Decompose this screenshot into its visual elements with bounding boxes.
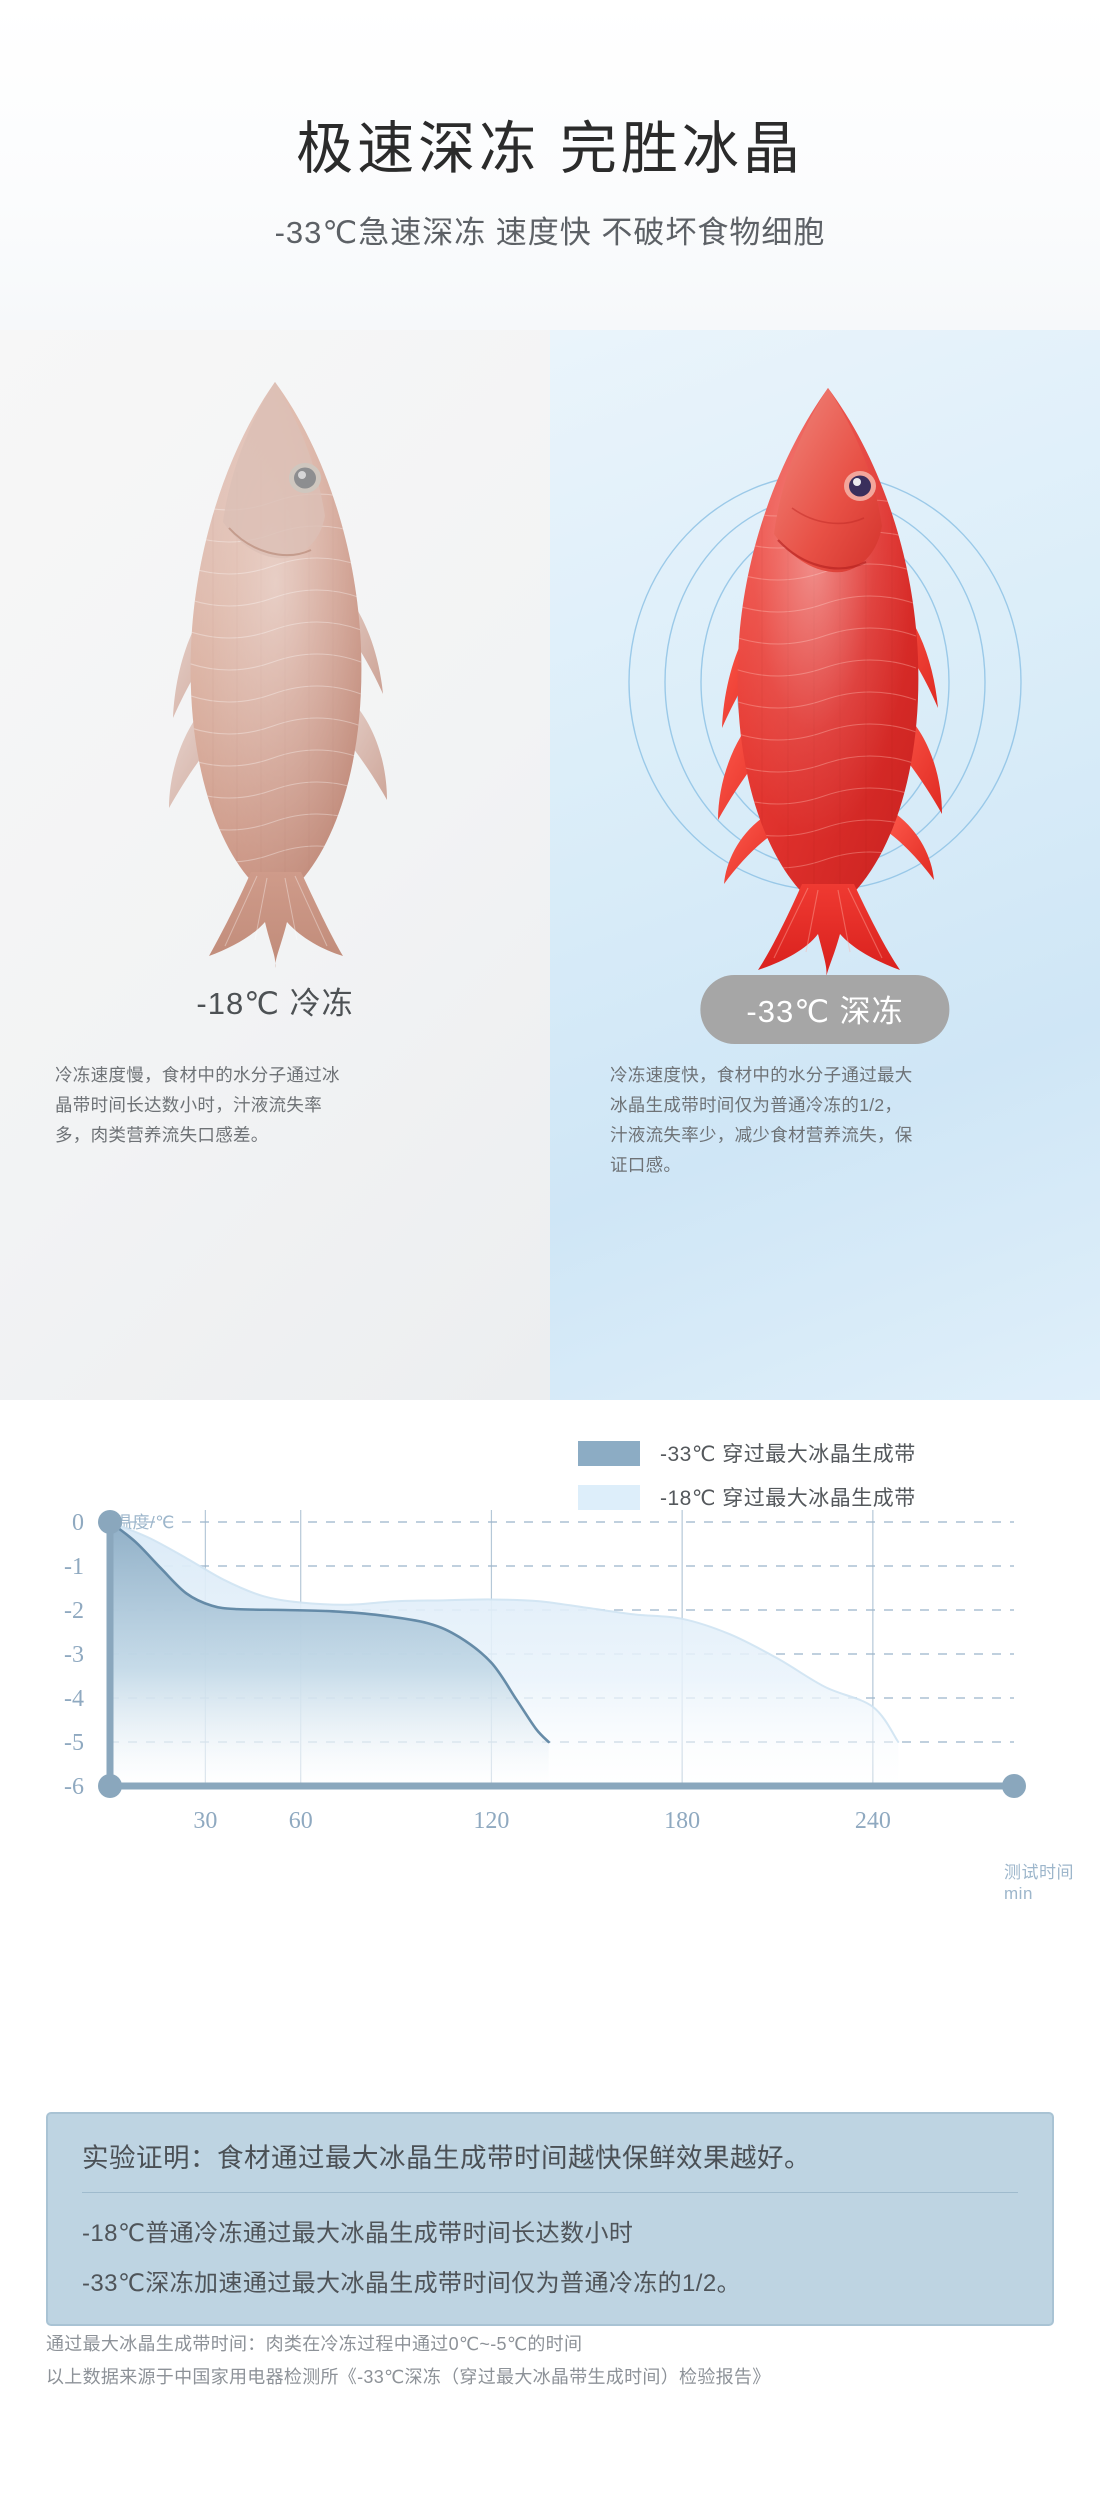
freezing-curve-chart: 0-1-2-3-4-5-63060120180240 xyxy=(0,1504,1100,1864)
legend-label-minus33: -33℃ 穿过最大冰晶生成带 xyxy=(660,1438,916,1468)
footnotes: 通过最大冰晶生成带时间：肉类在冷冻过程中通过0℃~-5℃的时间 以上数据来源于中… xyxy=(46,2328,1056,2395)
footnote-2: 以上数据来源于中国家用电器检测所《-33℃深冻（穿过最大冰晶带生成时间）检验报告… xyxy=(46,2361,1056,2394)
page-title: 极速深冻 完胜冰晶 xyxy=(0,118,1100,181)
conclusion-callout: 实验证明：食材通过最大冰晶生成带时间越快保鲜效果越好。 -18℃普通冷冻通过最大… xyxy=(46,2112,1054,2326)
callout-line-2: -33℃深冻加速通过最大冰晶生成带时间仅为普通冷冻的1/2。 xyxy=(82,2263,1018,2298)
legend-swatch-minus33 xyxy=(578,1441,640,1466)
svg-text:-1: -1 xyxy=(64,1554,84,1580)
right-description: 冷冻速度快，食材中的水分子通过最大冰晶生成带时间仅为普通冷冻的1/2，汁液流失率… xyxy=(610,1060,920,1180)
svg-text:-3: -3 xyxy=(64,1642,84,1668)
right-fish-stage xyxy=(550,330,1100,1030)
comparison-panel-minus33: -33℃ 深冻 冷冻速度快，食材中的水分子通过最大冰晶生成带时间仅为普通冷冻的1… xyxy=(550,330,1100,1400)
x-axis-title: 测试时间 min xyxy=(1004,1862,1074,1905)
callout-line-1: -18℃普通冷冻通过最大冰晶生成带时间长达数小时 xyxy=(82,2213,1018,2248)
comparison-panel-minus18: -18℃ 冷冻 冷冻速度慢，食材中的水分子通过冰晶带时间长达数小时，汁液流失率多… xyxy=(0,330,550,1400)
svg-text:30: 30 xyxy=(193,1808,217,1834)
x-axis-unit-text: min xyxy=(1004,1883,1074,1904)
frosted-fish-image xyxy=(125,352,425,977)
svg-text:60: 60 xyxy=(289,1808,313,1834)
chart-section: -33℃ 穿过最大冰晶生成带 -18℃ 穿过最大冰晶生成带 温度/℃ 测试时间 … xyxy=(0,1400,1100,2496)
right-caption-badge: -33℃ 深冻 xyxy=(700,975,949,1044)
fresh-fish-image xyxy=(670,358,980,983)
comparison-section: -18℃ 冷冻 冷冻速度慢，食材中的水分子通过冰晶带时间长达数小时，汁液流失率多… xyxy=(0,330,1100,1400)
left-description: 冷冻速度慢，食材中的水分子通过冰晶带时间长达数小时，汁液流失率多，肉类营养流失口… xyxy=(55,1060,355,1150)
left-caption: -18℃ 冷冻 xyxy=(0,978,550,1023)
page-subtitle: -33℃急速深冻 速度快 不破坏食物细胞 xyxy=(0,207,1100,252)
svg-text:180: 180 xyxy=(664,1808,700,1834)
left-fish-stage xyxy=(0,330,550,1030)
svg-text:120: 120 xyxy=(473,1808,509,1834)
x-axis-title-text: 测试时间 xyxy=(1004,1862,1074,1883)
hero-header: 极速深冻 完胜冰晶 -33℃急速深冻 速度快 不破坏食物细胞 xyxy=(0,0,1100,330)
svg-text:-6: -6 xyxy=(64,1774,84,1800)
svg-text:0: 0 xyxy=(72,1510,84,1536)
legend-item: -33℃ 穿过最大冰晶生成带 xyxy=(578,1438,916,1468)
svg-text:-2: -2 xyxy=(64,1598,84,1624)
footnote-1: 通过最大冰晶生成带时间：肉类在冷冻过程中通过0℃~-5℃的时间 xyxy=(46,2328,1056,2361)
svg-text:240: 240 xyxy=(855,1808,891,1834)
callout-headline: 实验证明：食材通过最大冰晶生成带时间越快保鲜效果越好。 xyxy=(82,2136,1018,2193)
svg-text:-4: -4 xyxy=(64,1686,84,1712)
svg-text:-5: -5 xyxy=(64,1730,84,1756)
product-detail-page: 极速深冻 完胜冰晶 -33℃急速深冻 速度快 不破坏食物细胞 xyxy=(0,0,1100,2496)
